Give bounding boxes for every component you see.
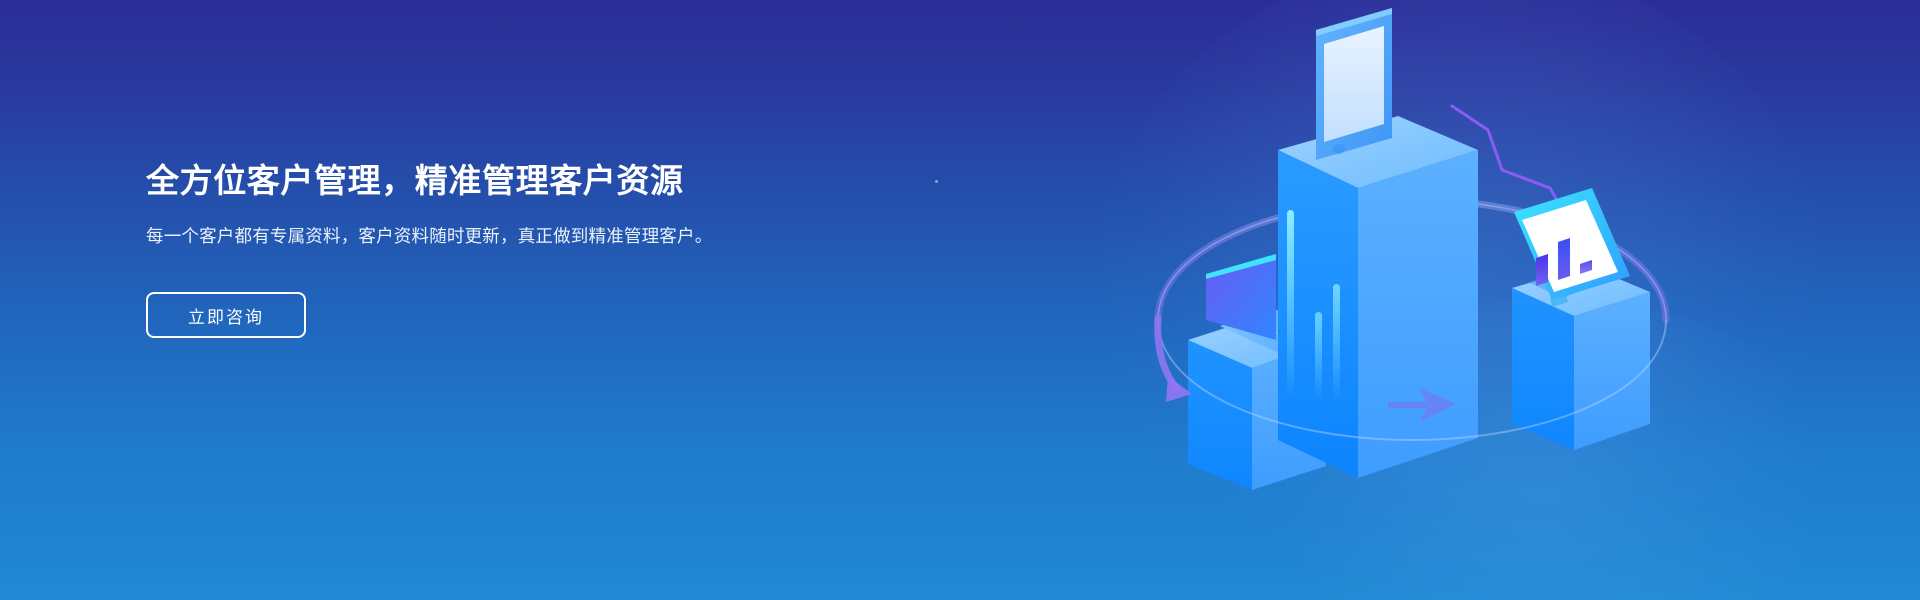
pillar-right <box>1512 266 1650 450</box>
hero-subtitle: 每一个客户都有专属资料，客户资料随时更新，真正做到精准管理客户。 <box>146 201 736 250</box>
page-title: 全方位客户管理，精准管理客户资源 <box>146 160 786 201</box>
hero-illustration <box>1130 20 1690 580</box>
hero-banner: 全方位客户管理，精准管理客户资源 每一个客户都有专属资料，客户资料随时更新，真正… <box>0 0 1920 600</box>
pillar-center <box>1278 116 1478 478</box>
orbit-arrow-left <box>1158 318 1192 402</box>
tablet-on-center-pillar <box>1316 8 1392 160</box>
decorative-dot <box>935 180 938 183</box>
consult-now-button[interactable]: 立即咨询 <box>146 292 306 338</box>
hero-copy-block: 全方位客户管理，精准管理客户资源 每一个客户都有专属资料，客户资料随时更新，真正… <box>146 160 786 338</box>
